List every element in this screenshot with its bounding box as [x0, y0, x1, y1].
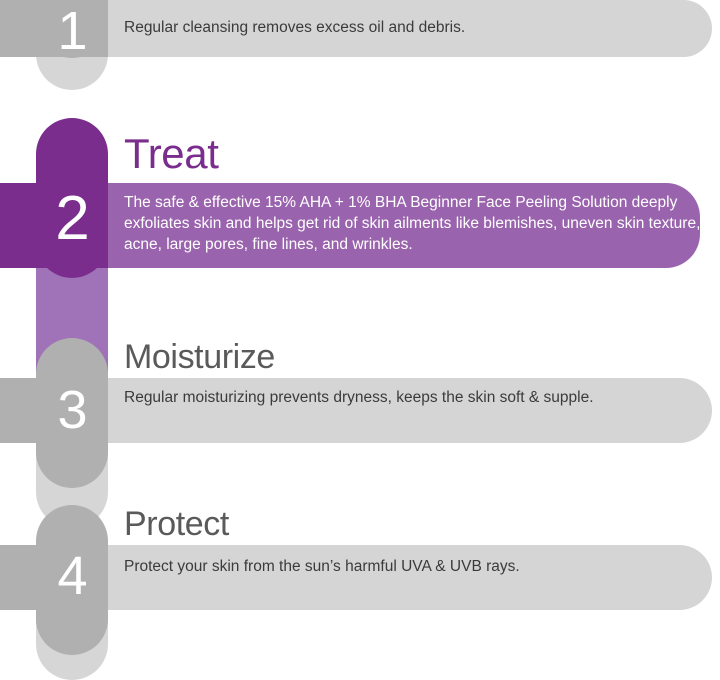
step-3-body-text: Regular moisturizing prevents dryness, k… — [124, 388, 684, 409]
step-4-number: 4 — [36, 549, 108, 603]
step-1-body-text: Regular cleansing removes excess oil and… — [124, 18, 684, 39]
step-1-number: 1 — [36, 4, 108, 58]
step-2-body-text: The safe & effective 15% AHA + 1% BHA Be… — [124, 192, 706, 255]
step-item-3: 3 Moisturize Regular moisturizing preven… — [0, 310, 720, 485]
step-4-body-text: Protect your skin from the sun’s harmful… — [124, 557, 684, 578]
skincare-routine-infographic: 1 Regular cleansing removes excess oil a… — [0, 0, 720, 600]
step-item-4: 4 Protect Protect your skin from the sun… — [0, 485, 720, 600]
step-item-2: 2 Treat The safe & effective 15% AHA + 1… — [0, 110, 720, 310]
step-2-number: 2 — [36, 188, 108, 250]
step-3-heading: Moisturize — [124, 340, 275, 374]
step-4-heading: Protect — [124, 507, 229, 541]
step-item-1: 1 Regular cleansing removes excess oil a… — [0, 0, 720, 110]
step-3-number: 3 — [36, 383, 108, 437]
step-2-heading: Treat — [124, 133, 218, 175]
